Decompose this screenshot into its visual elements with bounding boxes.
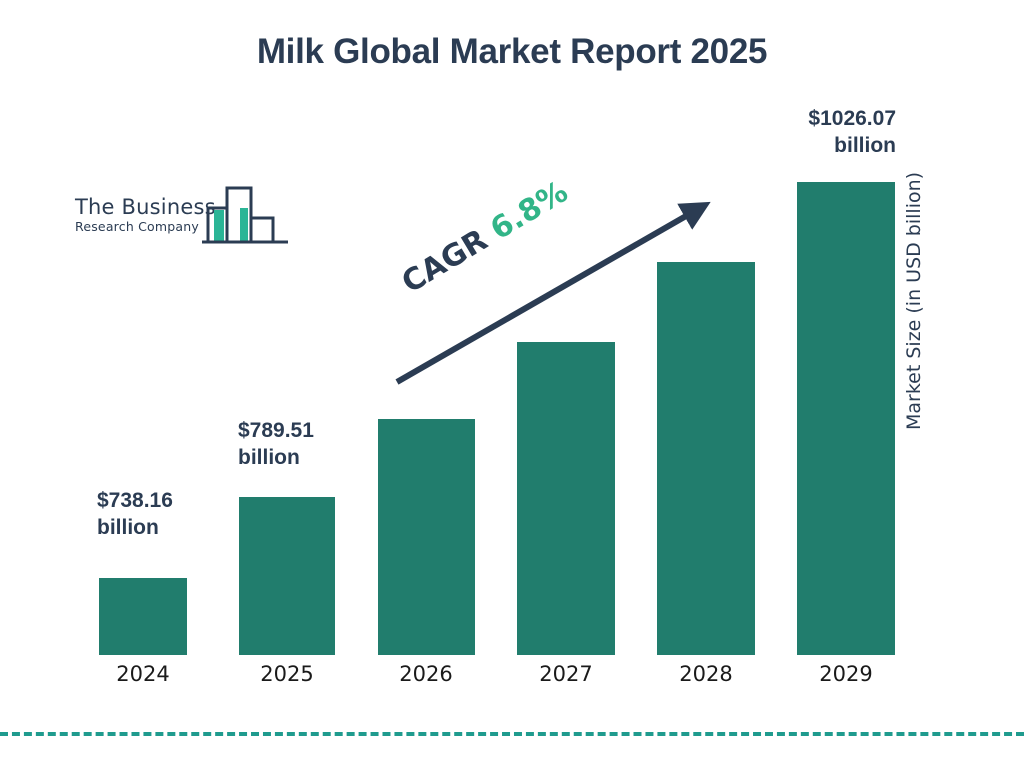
bar-value-2024: $738.16 billion (97, 487, 173, 541)
x-tick-2027: 2027 (506, 662, 626, 686)
bar-2027[interactable] (517, 342, 615, 655)
chart-page: Milk Global Market Report 2025 The Busin… (0, 0, 1024, 768)
y-axis-title: Market Size (in USD billion) (903, 110, 925, 430)
bar-2026[interactable] (378, 419, 475, 655)
x-tick-2029: 2029 (786, 662, 906, 686)
x-tick-2028: 2028 (646, 662, 766, 686)
x-tick-2025: 2025 (227, 662, 347, 686)
bar-2025[interactable] (239, 497, 335, 655)
bar-chart-plot-area: $738.16 billion $789.51 billion $1026.07… (0, 0, 1024, 768)
cagr-label: CAGR (396, 223, 494, 301)
x-tick-2026: 2026 (366, 662, 486, 686)
bar-2028[interactable] (657, 262, 755, 655)
bar-value-2029: $1026.07 billion (771, 105, 896, 159)
bar-2029[interactable] (797, 182, 895, 655)
footer-divider (0, 732, 1024, 736)
x-tick-2024: 2024 (83, 662, 203, 686)
cagr-value: 6.8% (485, 174, 574, 247)
bar-value-2025: $789.51 billion (238, 417, 314, 471)
cagr-annotation: CAGR 6.8% (396, 174, 574, 300)
bar-2024[interactable] (99, 578, 187, 655)
